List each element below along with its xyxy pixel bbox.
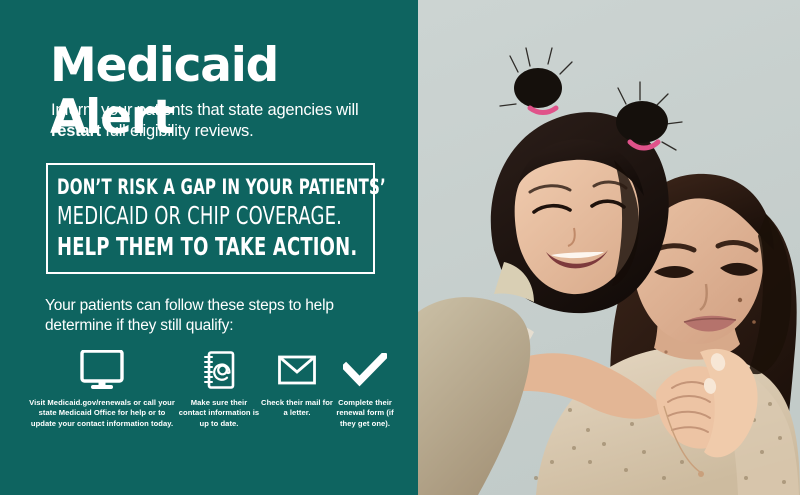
step-caption: Check their mail for a letter. — [260, 398, 334, 419]
step-item: Check their mail for a letter. — [260, 348, 334, 419]
callout-box-text: Don’t risk a gap in your patients’ Medic… — [57, 174, 367, 262]
step-caption: Make sure their contact information is u… — [178, 398, 260, 429]
teal-content-panel: Medicaid Alert Inform your patients that… — [0, 0, 418, 495]
address-book-icon — [203, 348, 235, 392]
step-item: Make sure their contact information is u… — [178, 348, 260, 429]
monitor-icon — [80, 348, 124, 392]
callout-line-1: Don’t risk a gap in your patients’ — [57, 174, 305, 201]
subheading-emphasis: restart — [51, 122, 101, 140]
subheading: Inform your patients that state agencies… — [51, 100, 391, 142]
step-item: Visit Medicaid.gov/renewals or call your… — [26, 348, 178, 429]
subheading-part-1: Inform your patients that state agencies… — [51, 101, 358, 119]
step-caption: Visit Medicaid.gov/renewals or call your… — [26, 398, 178, 429]
medicaid-alert-poster: Medicaid Alert Inform your patients that… — [0, 0, 800, 495]
family-photo — [418, 0, 800, 495]
checkmark-icon — [343, 348, 387, 392]
envelope-icon — [278, 348, 316, 392]
callout-line-3: Help them to take action. — [57, 231, 305, 262]
steps-intro-text: Your patients can follow these steps to … — [45, 296, 365, 336]
step-caption: Complete their renewal form (if they get… — [334, 398, 396, 429]
step-item: Complete their renewal form (if they get… — [334, 348, 396, 429]
callout-line-2: Medicaid or CHIP coverage. — [57, 201, 305, 231]
subheading-part-2: full eligibility reviews. — [101, 122, 254, 140]
steps-row: Visit Medicaid.gov/renewals or call your… — [26, 348, 396, 429]
callout-box: Don’t risk a gap in your patients’ Medic… — [46, 163, 375, 274]
